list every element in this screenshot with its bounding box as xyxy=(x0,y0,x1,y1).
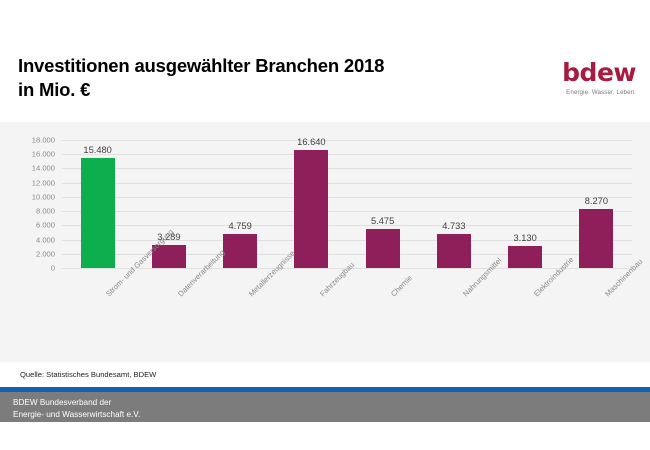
y-axis-tick-label: 18.000 xyxy=(32,136,55,145)
chart-plot-area: 18.00016.00014.00012.00010.0008.0006.000… xyxy=(62,140,632,268)
chart-bar-group[interactable]: 16.640 xyxy=(276,140,347,268)
chart-bar-group[interactable]: 4.759 xyxy=(205,140,276,268)
x-axis-category-label: Chemie xyxy=(389,273,414,298)
chart-bar[interactable] xyxy=(366,229,400,268)
footer-line-1: BDEW Bundesverband der xyxy=(13,397,140,409)
page-title: Investitionen ausgewählter Branchen 2018… xyxy=(18,54,518,103)
chart-bar-value-label: 4.733 xyxy=(442,221,465,231)
chart-bar[interactable] xyxy=(508,246,542,268)
chart-bar-value-label: 15.480 xyxy=(83,145,111,155)
chart-bar[interactable] xyxy=(81,158,115,268)
y-axis-tick-label: 6.000 xyxy=(36,221,55,230)
chart-bar-value-label: 8.270 xyxy=(585,196,608,206)
slide-footer: BDEW Bundesverband der Energie- und Wass… xyxy=(0,392,650,422)
chart-bar[interactable] xyxy=(437,234,471,268)
chart-bar-group[interactable]: 3.289 xyxy=(133,140,204,268)
bdew-logo: bdew Energie. Wasser. Leben. xyxy=(532,60,636,96)
chart-bar[interactable] xyxy=(294,150,328,268)
source-note: Quelle: Statistisches Bundesamt, BDEW xyxy=(20,370,156,379)
slide-canvas: Investitionen ausgewählter Branchen 2018… xyxy=(0,0,650,422)
page-title-line-2: in Mio. € xyxy=(18,78,518,102)
chart-panel: 18.00016.00014.00012.00010.0008.0006.000… xyxy=(0,122,650,362)
chart-bar-value-label: 5.475 xyxy=(371,216,394,226)
footer-line-2: Energie- und Wasserwirtschaft e.V. xyxy=(13,409,140,421)
chart-bar-value-label: 16.640 xyxy=(297,137,325,147)
page-title-line-1: Investitionen ausgewählter Branchen 2018 xyxy=(18,54,518,78)
y-axis-tick-label: 0 xyxy=(51,264,55,273)
slide-header: Investitionen ausgewählter Branchen 2018… xyxy=(0,0,650,122)
chart-bar-value-label: 4.759 xyxy=(228,221,251,231)
chart-bar-group[interactable]: 5.475 xyxy=(347,140,418,268)
y-axis-tick-label: 2.000 xyxy=(36,249,55,258)
y-axis-tick-label: 10.000 xyxy=(32,192,55,201)
chart-bar-group[interactable]: 4.733 xyxy=(418,140,489,268)
y-axis-tick-label: 12.000 xyxy=(32,178,55,187)
logo-tagline: Energie. Wasser. Leben. xyxy=(532,89,636,96)
chart-bar[interactable] xyxy=(579,209,613,268)
y-axis-tick-label: 16.000 xyxy=(32,150,55,159)
chart-bar-group[interactable]: 8.270 xyxy=(561,140,632,268)
y-axis-tick-label: 8.000 xyxy=(36,207,55,216)
chart-bar[interactable] xyxy=(223,234,257,268)
chart-bar-group[interactable]: 3.130 xyxy=(490,140,561,268)
y-axis-tick-label: 14.000 xyxy=(32,164,55,173)
logo-wordmark: bdew xyxy=(532,60,636,85)
chart-bar-group[interactable]: 15.480 xyxy=(62,140,133,268)
chart-bar-value-label: 3.130 xyxy=(513,233,536,243)
footer-text: BDEW Bundesverband der Energie- und Wass… xyxy=(13,397,140,421)
y-axis-tick-label: 4.000 xyxy=(36,235,55,244)
